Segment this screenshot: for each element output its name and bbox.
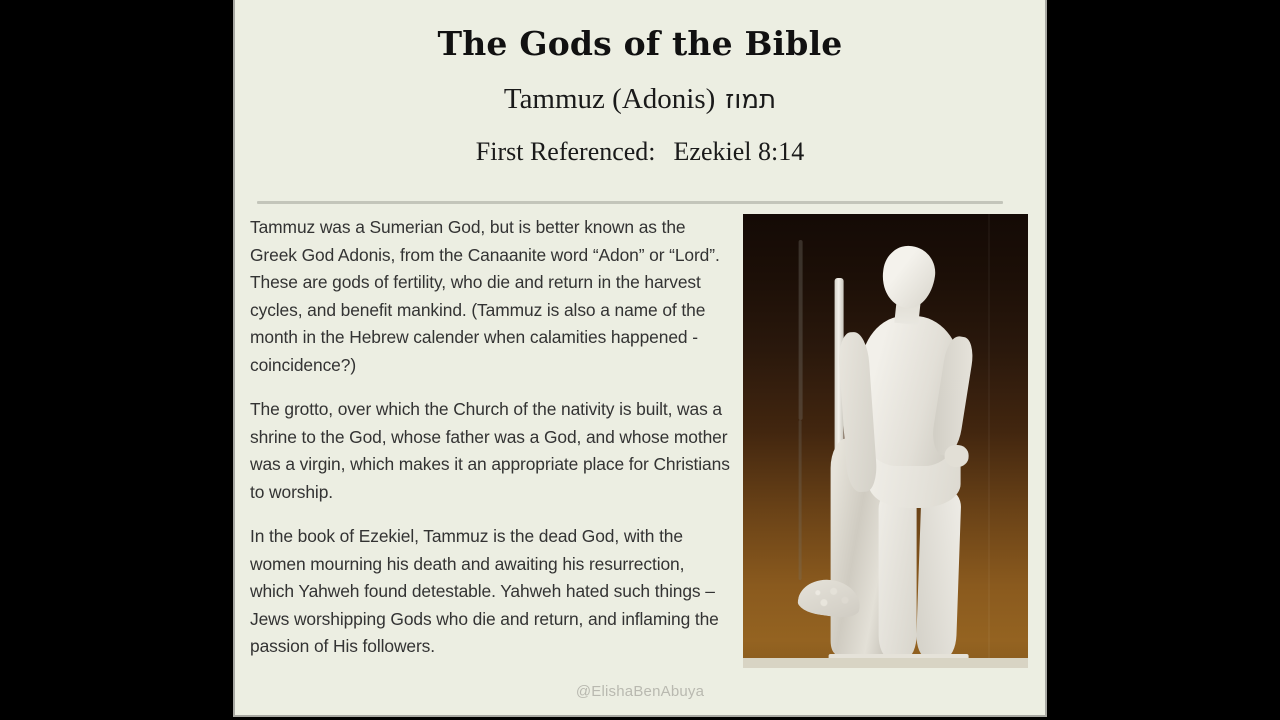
header-divider bbox=[257, 201, 1003, 204]
drapery-fold-right bbox=[798, 420, 801, 580]
subtitle-hebrew-text: תמוז bbox=[715, 85, 776, 115]
statue-image bbox=[743, 214, 1028, 668]
marble-statue-figure bbox=[798, 240, 988, 660]
drapery-fold-left bbox=[798, 240, 802, 420]
body-paragraph-3: In the book of Ezekiel, Tammuz is the de… bbox=[250, 523, 730, 661]
wall-seam bbox=[988, 214, 990, 668]
statue-photo-background bbox=[743, 214, 1028, 668]
reference-label: First Referenced: bbox=[476, 137, 656, 166]
page-title: The Gods of the Bible bbox=[235, 0, 1045, 62]
hand-on-hip-shape bbox=[944, 445, 968, 467]
body-text-column: Tammuz was a Sumerian God, but is better… bbox=[250, 214, 730, 661]
slide-header: The Gods of the Bible Tammuz (Adonis)תמו… bbox=[235, 0, 1045, 167]
reference-value: Ezekiel 8:14 bbox=[674, 137, 805, 166]
video-stage: The Gods of the Bible Tammuz (Adonis)תמו… bbox=[0, 0, 1280, 720]
right-leg-shape bbox=[915, 489, 961, 658]
head-shape bbox=[878, 243, 938, 312]
subtitle-latin-text: Tammuz (Adonis) bbox=[504, 83, 715, 115]
channel-watermark: @ElishaBenAbuya bbox=[235, 683, 1045, 700]
slide-subtitle: Tammuz (Adonis)תמוז bbox=[235, 62, 1045, 116]
body-paragraph-2: The grotto, over which the Church of the… bbox=[250, 396, 730, 506]
photo-floor-strip bbox=[743, 658, 1028, 668]
left-leg-shape bbox=[878, 492, 916, 658]
body-paragraph-1: Tammuz was a Sumerian God, but is better… bbox=[250, 214, 730, 379]
presentation-slide: The Gods of the Bible Tammuz (Adonis)תמו… bbox=[233, 0, 1047, 717]
slide-content: Tammuz was a Sumerian God, but is better… bbox=[235, 214, 1045, 674]
scripture-reference: First Referenced:Ezekiel 8:14 bbox=[235, 117, 1045, 167]
